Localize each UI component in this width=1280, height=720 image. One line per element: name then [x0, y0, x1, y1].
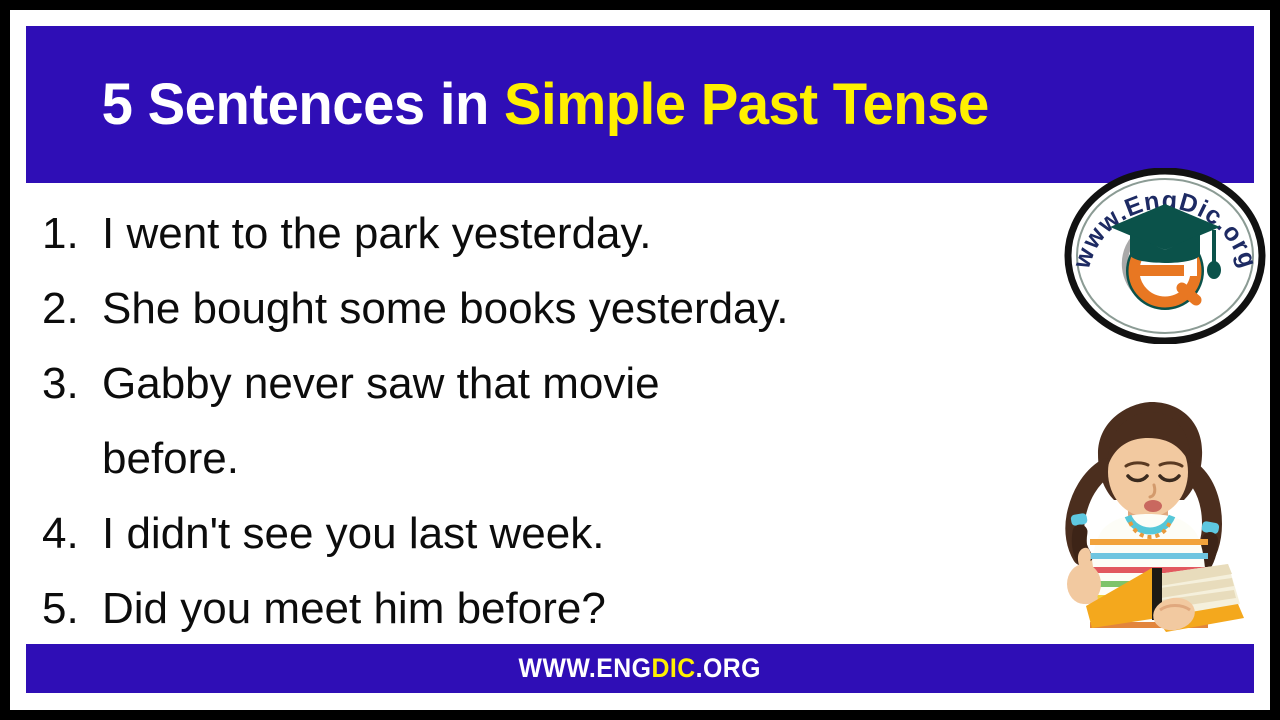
sentence-list: 1. I went to the park yesterday. 2. She … — [26, 196, 1006, 646]
page-title-yellow-part: Simple Past Tense — [504, 72, 989, 137]
list-item: 2. She bought some books yesterday. — [26, 271, 1006, 346]
mouth — [1144, 500, 1162, 512]
list-item-text: I went to the park yesterday. — [102, 196, 1006, 271]
poster-canvas: 5 Sentences in Simple Past Tense 1. I we… — [0, 0, 1280, 720]
list-item-text: I didn't see you last week. — [102, 496, 1006, 571]
footer-url-part-two: DIC — [652, 653, 696, 683]
engdic-logo[interactable]: www.EngDic.org — [1064, 168, 1266, 344]
header-banner: 5 Sentences in Simple Past Tense — [26, 26, 1254, 183]
list-item-number: 2. — [26, 271, 102, 346]
footer-url[interactable]: WWW.ENGDIC.ORG — [519, 653, 761, 684]
list-item-number: 3. — [26, 346, 102, 421]
list-item: 3. Gabby never saw that movie before. — [26, 346, 1006, 496]
footer-url-part-one: WWW.ENG — [519, 653, 652, 683]
left-hand — [1067, 564, 1101, 604]
list-item-number: 4. — [26, 496, 102, 571]
list-item: 4. I didn't see you last week. — [26, 496, 1006, 571]
list-item-number: 5. — [26, 571, 102, 646]
list-item: 1. I went to the park yesterday. — [26, 196, 1006, 271]
list-item-text: She bought some books yesterday. — [102, 271, 1006, 346]
footer-url-part-three: .ORG — [696, 653, 761, 683]
list-item-number: 1. — [26, 196, 102, 271]
page-title: 5 Sentences in Simple Past Tense — [26, 76, 989, 134]
footer-banner: WWW.ENGDIC.ORG — [26, 644, 1254, 693]
list-item-text: Gabby never saw that movie before. — [102, 346, 672, 496]
page-title-white-part: 5 Sentences in — [102, 72, 504, 137]
list-item: 5. Did you meet him before? — [26, 571, 1006, 646]
girl-reading-book-image — [1032, 392, 1260, 637]
list-item-text: Did you meet him before? — [102, 571, 1006, 646]
